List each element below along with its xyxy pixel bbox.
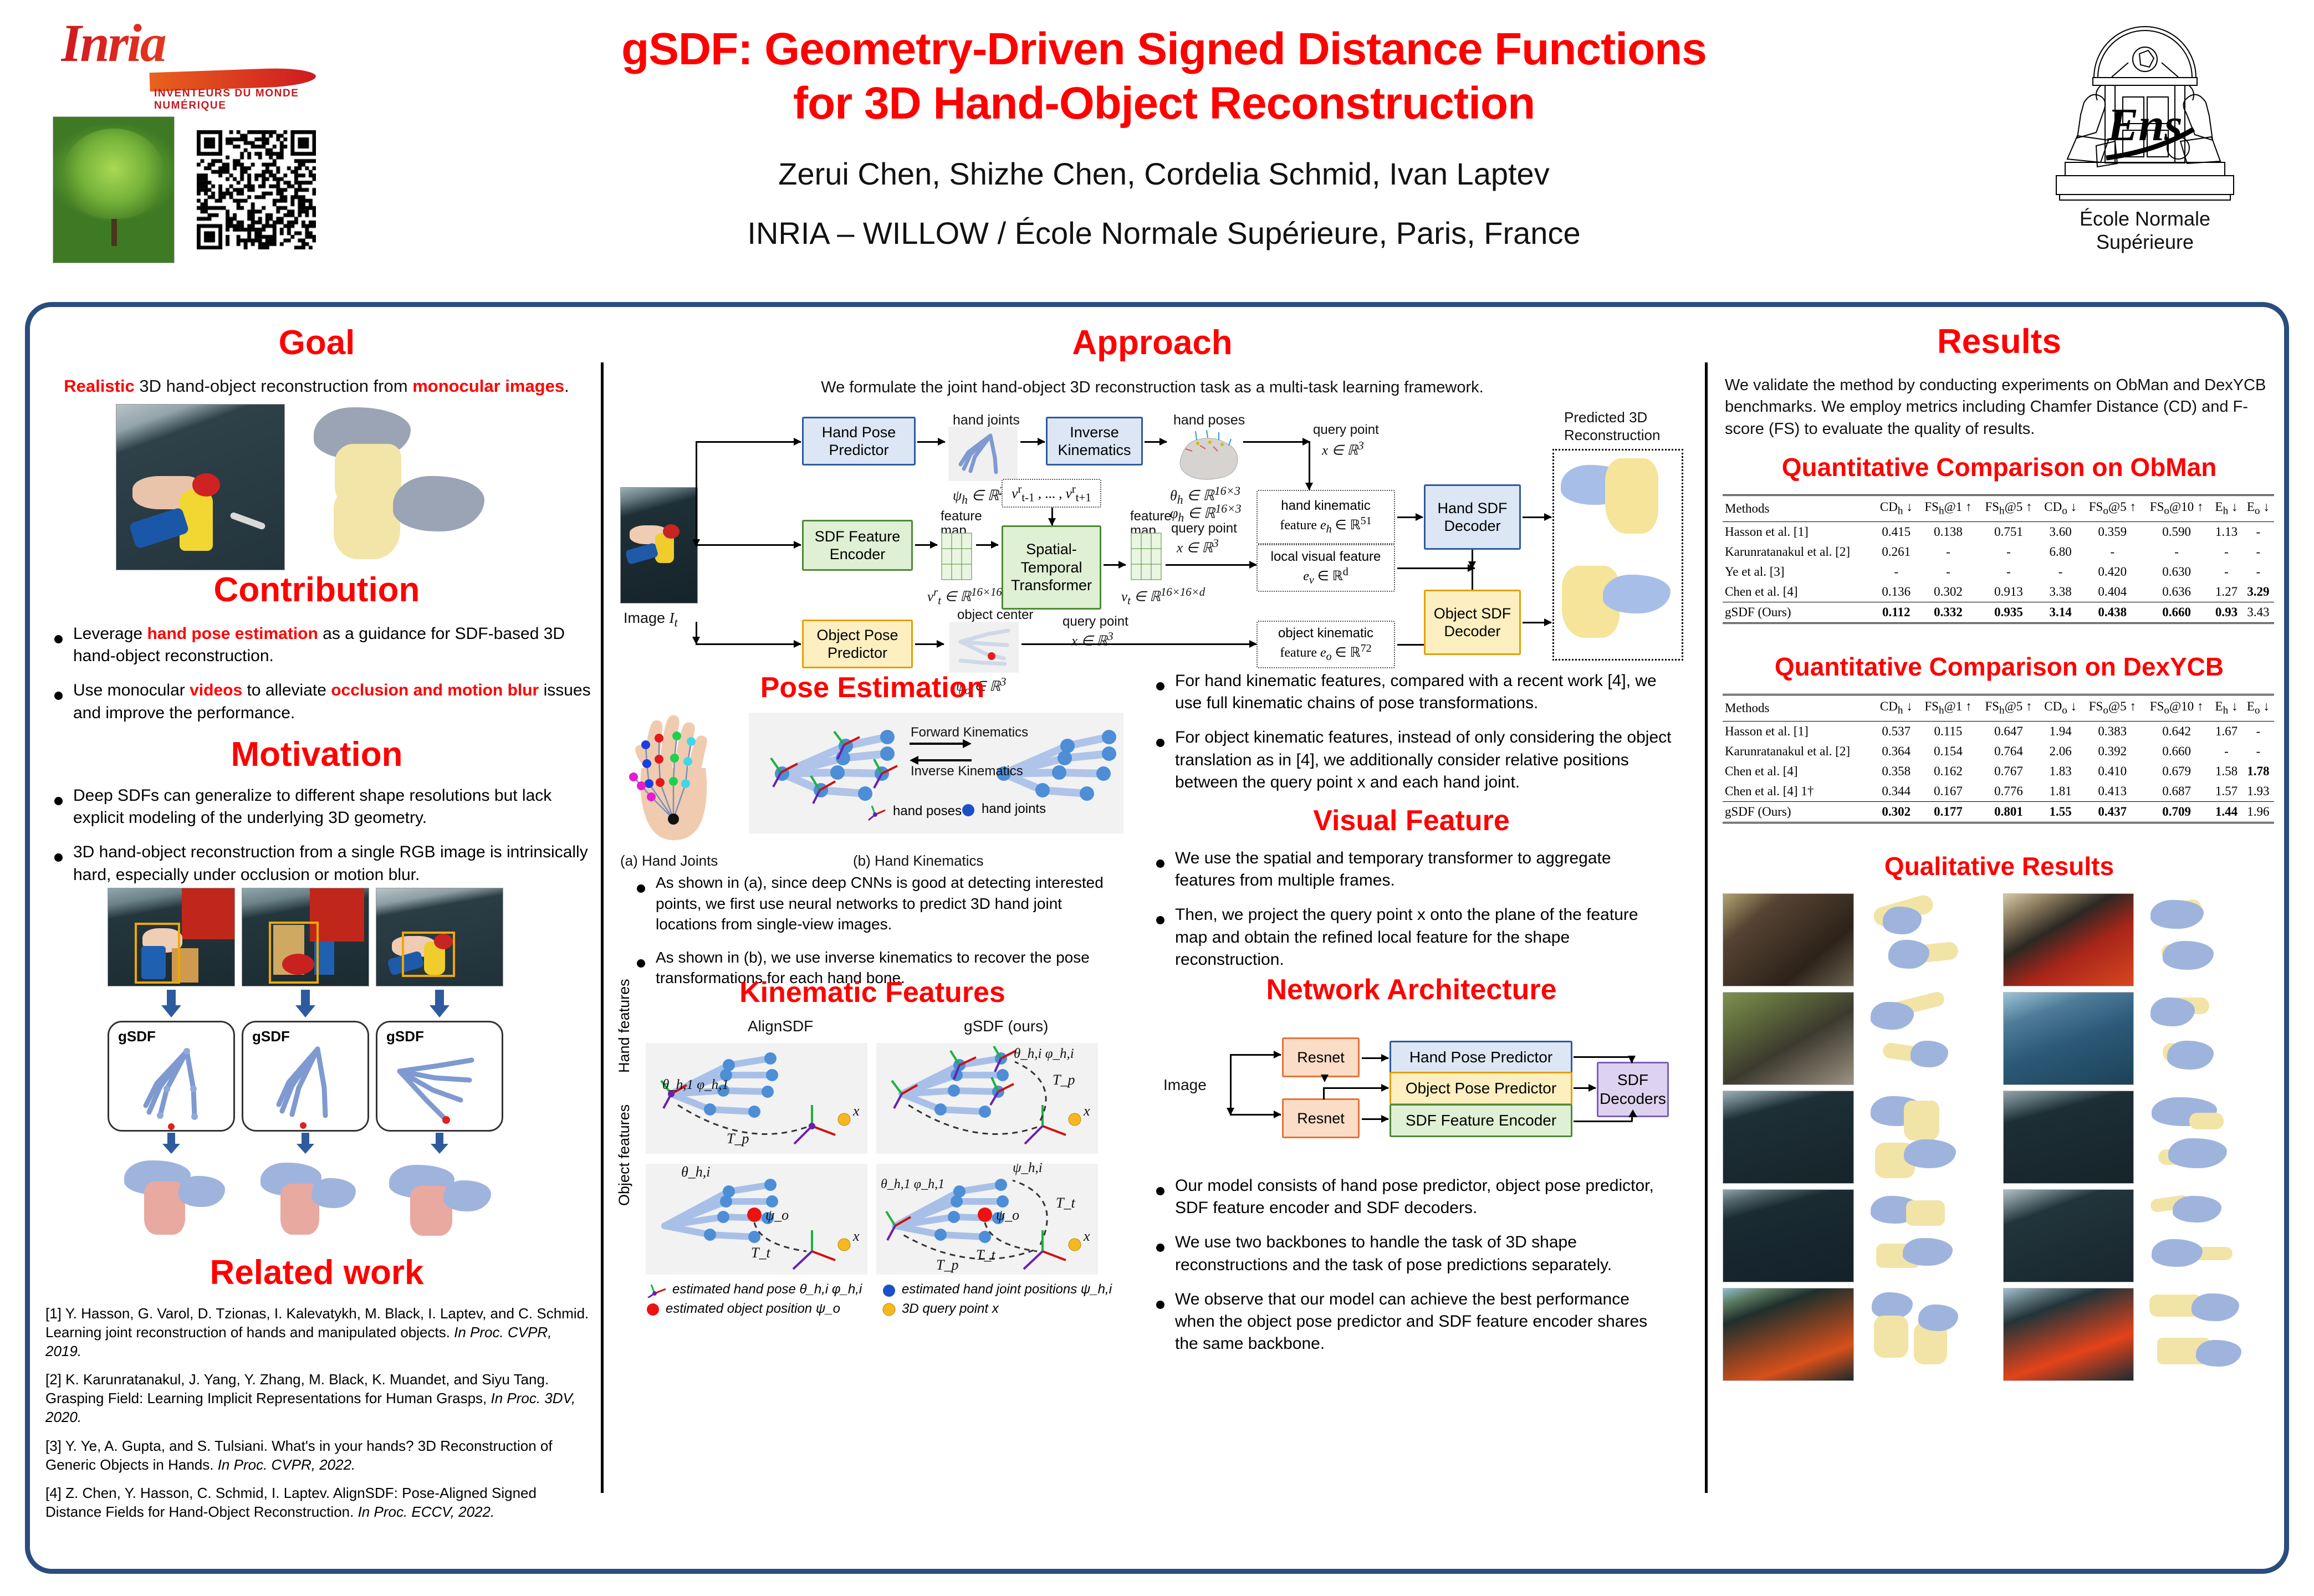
cell-value: 0.359 <box>2082 521 2143 542</box>
anno-psi-o-2: ψ_o <box>996 1207 1019 1224</box>
hand-joints-photo <box>626 710 737 841</box>
col-fso5: FSo@5 ↑ <box>2082 695 2143 722</box>
approach-pipeline-diagram: Image It Hand Pose Predictor hand joints <box>614 407 1694 662</box>
dexycb-table: Methods CDh ↓ FSh@1 ↑ FSh@5 ↑ CDo ↓ FSo@… <box>1723 694 2274 823</box>
cell-value: 0.392 <box>2082 741 2143 761</box>
poster-header: Inria INVENTEURS DU MONDE NUMÉRIQUE gSDF… <box>0 0 2314 294</box>
section-network-architecture-title: Network Architecture <box>1150 975 1673 1005</box>
anno-x-4: x <box>1084 1228 1090 1245</box>
hand-skeleton-icon <box>243 1022 371 1133</box>
table-row: Chen et al. [4] 1†0.3440.1670.7761.810.4… <box>1723 781 2274 802</box>
qual-photo-9 <box>1723 1288 1854 1381</box>
qual-render-9 <box>1863 1288 1994 1381</box>
goal-3d-render <box>302 404 518 570</box>
axes-icon <box>646 1281 668 1298</box>
table-row: Chen et al. [4]0.3580.1620.7671.830.4100… <box>1723 761 2274 781</box>
label-object-center: object center <box>957 607 1033 623</box>
cell-value: 0.679 <box>2143 761 2211 781</box>
label-hand-joints: hand joints <box>953 412 1020 428</box>
label-forward-kinematics: Forward Kinematics <box>911 725 1028 740</box>
na-bullet-2: We use two backbones to handle the task … <box>1150 1231 1673 1276</box>
box-spatial-temporal-transformer[interactable]: Spatial-TemporalTransformer <box>1002 525 1101 610</box>
label-query-point-1: query point <box>1313 422 1379 438</box>
anno-x-2: x <box>1084 1103 1090 1119</box>
qual-photo-4 <box>2003 992 2134 1085</box>
cell-value: 3.43 <box>2243 602 2274 623</box>
section-related-work-title: Related work <box>30 1255 604 1291</box>
legend-query-point: 3D query point x <box>882 1301 999 1317</box>
legend-text-3: estimated object position ψ_o <box>666 1301 840 1317</box>
reference-3: [3] Y. Ye, A. Gupta, and S. Tulsiani. Wh… <box>45 1437 591 1475</box>
cell-value: 1.81 <box>2039 781 2082 802</box>
cell-value: - <box>2243 542 2274 562</box>
cell-value: 0.404 <box>2082 582 2143 602</box>
caption-hand-kinematics: (b) Hand Kinematics <box>853 852 984 869</box>
qualitative-results-title: Qualitative Results <box>1709 853 2289 879</box>
box-temporal-tokens: vrt-1 , ... , vrt+1 <box>1002 479 1101 508</box>
motivation-arrow-row-2 <box>108 1133 529 1155</box>
cell-method: Karunratanakul et al. [2] <box>1723 741 1874 761</box>
table-header-row: Methods CDh ↓ FSh@1 ↑ FSh@5 ↑ CDo ↓ FSo@… <box>1723 695 2274 722</box>
gsdf-box-3: gSDF <box>376 1021 503 1132</box>
anno-tp-2: T_p <box>1053 1072 1075 1088</box>
box-predicted-reconstruction <box>1552 449 1683 661</box>
legend-text-2: estimated hand joint positions ψ_h,i <box>902 1282 1112 1297</box>
box-inverse-kinematics[interactable]: Inverse Kinematics <box>1046 417 1143 465</box>
cell-value: 1.58 <box>2210 761 2242 781</box>
cell-value: 0.261 <box>1874 542 1918 562</box>
cell-value: 1.94 <box>2039 721 2082 741</box>
anno-psi-o-1: ψ_o <box>765 1207 789 1224</box>
box-resnet-1[interactable]: Resnet <box>1282 1037 1360 1077</box>
cell-method: gSDF (Ours) <box>1723 801 1874 822</box>
obman-table-title: Quantitative Comparison on ObMan <box>1709 454 2289 480</box>
title-block: gSDF: Geometry-Driven Signed Distance Fu… <box>388 22 1940 251</box>
cell-value: 0.413 <box>2082 781 2143 802</box>
vf-bullet-1: We use the spatial and temporary transfo… <box>1150 847 1673 892</box>
legend-hand-joints: hand joints <box>961 801 1046 817</box>
cell-value: - <box>2243 562 2274 582</box>
column-divider-2 <box>1705 362 1708 1493</box>
ref-4-id: [4] <box>45 1485 62 1501</box>
hand-skeleton-icon <box>109 1022 237 1133</box>
cell-method: Hasson et al. [1] <box>1723 721 1874 741</box>
goal-statement: Realistic 3D hand-object reconstruction … <box>42 375 591 398</box>
dexycb-table-body: Hasson et al. [1]0.5370.1150.6471.940.38… <box>1723 721 2274 822</box>
col-cdo: CDo ↓ <box>2039 695 2082 722</box>
anno-x-1: x <box>853 1103 860 1119</box>
down-arrow-icon <box>161 1133 181 1155</box>
section-pose-estimation-title: Pose Estimation <box>620 673 1125 703</box>
table-row: Hasson et al. [1]0.4150.1380.7513.600.35… <box>1723 521 2274 542</box>
cell-value: 0.438 <box>2082 602 2143 623</box>
table-row-ours: gSDF (Ours)0.1120.3320.9353.140.4380.660… <box>1723 602 2274 623</box>
page-title: gSDF: Geometry-Driven Signed Distance Fu… <box>388 22 1940 131</box>
cell-value: 0.437 <box>2082 801 2143 822</box>
qual-render-7 <box>1863 1189 1994 1282</box>
cell-value: - <box>1874 562 1918 582</box>
table-row: Chen et al. [4]0.1360.3020.9133.380.4040… <box>1723 582 2274 602</box>
anno-tt-2: T_t <box>1056 1195 1075 1211</box>
inria-logo: Inria INVENTEURS DU MONDE NUMÉRIQUE <box>61 17 321 94</box>
reference-2: [2] K. Karunratanakul, J. Yang, Y. Zhang… <box>45 1370 591 1426</box>
right-column: Results We validate the method by conduc… <box>1709 307 2289 1569</box>
anno-tt-1: T_t <box>751 1245 770 1261</box>
section-kinematic-features-title: Kinematic Features <box>620 978 1125 1008</box>
cell-value: 6.80 <box>2039 542 2082 562</box>
qual-photo-2 <box>2003 893 2134 986</box>
cell-value: - <box>2143 542 2211 562</box>
col-fsh5: FSh@5 ↑ <box>1978 495 2039 522</box>
cell-value: 0.642 <box>2143 721 2211 741</box>
legend-estimated-joints: estimated hand joint positions ψ_h,i <box>882 1282 1112 1297</box>
box-object-pose-predictor[interactable]: Object PosePredictor <box>802 620 913 668</box>
kinematic-legend: estimated hand pose θ_h,i φ_h,i estimate… <box>646 1281 1133 1317</box>
cell-value: 0.167 <box>1918 781 1978 802</box>
recon-render-bottom <box>1554 555 1682 659</box>
cell-method: Ye et al. [3] <box>1723 562 1874 582</box>
cell-value: 0.177 <box>1918 801 1978 822</box>
anno-tp-1: T_p <box>727 1130 749 1147</box>
cell-value: 0.647 <box>1978 721 2039 741</box>
panel-alignsdf-object: θ_h,i ψ_o T_t x <box>646 1164 867 1275</box>
label-query-point-3: query point <box>1063 614 1128 630</box>
box-resnet-2[interactable]: Resnet <box>1282 1098 1360 1138</box>
cell-value: - <box>2210 741 2242 761</box>
motivation-gsdf-row: gSDF gSDF <box>108 1021 529 1132</box>
kinematic-feature-bullets: For hand kinematic features, compared wi… <box>1150 670 1673 806</box>
motivation-bullet-2: 3D hand-object reconstruction from a sin… <box>48 841 591 886</box>
box-sdf-feature-encoder[interactable]: SDF FeatureEncoder <box>802 520 913 571</box>
box-object-kinematic-feature: object kinematicfeature eo ∈ ℝ72 <box>1256 621 1395 668</box>
cell-value: 0.332 <box>1918 602 1978 623</box>
motivation-render-3 <box>376 1157 503 1243</box>
inria-tagline: INVENTEURS DU MONDE NUMÉRIQUE <box>154 88 321 112</box>
cell-value: 0.767 <box>1978 761 2039 781</box>
sdf-decoders-label: SDF Decoders <box>1598 1071 1667 1108</box>
table-row: Karunratanakul et al. [2]0.3640.1540.764… <box>1723 741 2274 761</box>
panel-alignsdf-hand: θ_h,1 φ_h,1 T_p x <box>646 1043 867 1154</box>
ens-caption: École Normale Supérieure <box>2029 207 2261 254</box>
cell-value: 0.112 <box>1874 602 1918 623</box>
related-work-list: [1] Y. Hasson, G. Varol, D. Tzionas, I. … <box>45 1305 591 1522</box>
feature-map-grid-icon <box>1130 532 1163 582</box>
label-query-point-2: query point <box>1171 521 1237 536</box>
thumb-hand-joints <box>948 427 1018 481</box>
cell-value: 0.410 <box>2082 761 2143 781</box>
down-arrow-icon <box>294 990 316 1019</box>
label-hand-features-row: Hand features <box>616 979 633 1073</box>
table-row: Hasson et al. [1]0.5370.1150.6471.940.38… <box>1723 721 2274 741</box>
cell-value: 0.364 <box>1874 741 1918 761</box>
diagram-input-image <box>620 487 698 603</box>
cell-value: - <box>2243 721 2274 741</box>
cell-value: 0.415 <box>1874 521 1918 542</box>
cell-value: 0.764 <box>1978 741 2039 761</box>
cell-value: 0.660 <box>2143 741 2211 761</box>
vf-bullet-2: Then, we project the query point x onto … <box>1150 904 1673 971</box>
na-bullet-3: We observe that our model can achieve th… <box>1150 1288 1673 1355</box>
cell-value: - <box>1918 562 1978 582</box>
cell-method: gSDF (Ours) <box>1723 602 1874 623</box>
table-row-ours: gSDF (Ours)0.3020.1770.8011.550.4370.709… <box>1723 801 2274 822</box>
motivation-render-1 <box>108 1157 235 1243</box>
col-cdo: CDo ↓ <box>2039 495 2082 522</box>
motivation-photo-row <box>108 888 529 986</box>
cell-value: 1.78 <box>2243 761 2274 781</box>
ref-3-venue: In Proc. CVPR, 2022. <box>218 1456 356 1473</box>
cell-value: 0.358 <box>1874 761 1918 781</box>
cell-value: - <box>2243 741 2274 761</box>
col-eh: Eh ↓ <box>2210 495 2242 522</box>
approach-intro: We formulate the joint hand-object 3D re… <box>609 377 1695 398</box>
label-feature-map-2: feature <box>1130 509 1172 524</box>
col-cdh: CDh ↓ <box>1874 495 1918 522</box>
object-center-icon <box>949 622 1019 673</box>
reference-4: [4] Z. Chen, Y. Hasson, C. Schmid, I. La… <box>45 1484 591 1522</box>
kinematic-panel-icon <box>646 1043 867 1154</box>
joint-dot-icon <box>961 801 976 817</box>
down-arrow-icon <box>160 990 182 1019</box>
recon-render-top <box>1554 451 1682 555</box>
cell-value: 0.687 <box>2143 781 2211 802</box>
anno-psi-hi: ψ_h,i <box>1013 1160 1043 1176</box>
anno-x-3: x <box>853 1228 860 1245</box>
section-results-title: Results <box>1709 324 2289 360</box>
cell-value: 0.636 <box>2143 582 2211 602</box>
reference-1: [1] Y. Hasson, G. Varol, D. Tzionas, I. … <box>45 1305 591 1360</box>
box-hand-kinematic-feature: hand kinematicfeature eh ∈ ℝ51 <box>1256 490 1395 544</box>
motivation-arrow-row-1 <box>108 990 529 1019</box>
motivation-photo-1 <box>108 888 235 986</box>
cell-value: 0.660 <box>2143 602 2211 623</box>
anno-theta-hi-2: θ_h,i <box>681 1164 711 1180</box>
kf-bullet-1: For hand kinematic features, compared wi… <box>1150 670 1673 714</box>
obman-table-body: Hasson et al. [1]0.4150.1380.7513.600.35… <box>1723 521 2274 623</box>
anno-theta-h1: θ_h,1 φ_h,1 <box>662 1077 729 1093</box>
qual-photo-8 <box>2003 1189 2134 1282</box>
qual-render-1 <box>1863 893 1994 986</box>
na-bullet-1: Our model consists of hand pose predicto… <box>1150 1175 1673 1219</box>
goal-highlight-2: monocular images <box>412 376 564 396</box>
ref-4-venue: In Proc. ECCV, 2022. <box>358 1503 495 1520</box>
motivation-figure: gSDF gSDF <box>108 888 529 1243</box>
label-v-t: vt ∈ ℝ16×16×d <box>1121 585 1205 607</box>
motivation-render-row <box>108 1157 529 1243</box>
goal-text-mid: 3D hand-object reconstruction from <box>135 376 412 396</box>
col-fso10: FSo@10 ↑ <box>2143 495 2211 522</box>
label-query-x-1: x ∈ ℝ3 <box>1322 439 1364 458</box>
legend-hand-joints-label: hand joints <box>982 801 1046 817</box>
col-eh: Eh ↓ <box>2210 695 2242 722</box>
box-hand-pose-predictor[interactable]: Hand Pose Predictor <box>802 417 916 465</box>
box-na-object-pose-predictor[interactable]: Object Pose Predictor <box>1390 1072 1572 1105</box>
cell-value: 0.302 <box>1918 582 1978 602</box>
motivation-photo-3 <box>376 888 503 986</box>
hand-joints-icon <box>948 427 1018 481</box>
feature-map-grid-icon <box>941 532 974 582</box>
inria-wordmark: Inria <box>61 17 321 70</box>
label-predicted-recon-1: Predicted 3D <box>1564 409 1647 426</box>
legend-estimated-hand-pose: estimated hand pose θ_h,i φ_h,i <box>646 1281 867 1298</box>
cell-value: 1.27 <box>2210 582 2242 602</box>
ref-2-text: K. Karunratanakul, J. Yang, Y. Zhang, M.… <box>45 1371 549 1406</box>
qual-render-10 <box>2143 1288 2274 1381</box>
anno-theta-hi: θ_h,i φ_h,i <box>1014 1046 1074 1062</box>
kf-bullet-2: For object kinematic features, instead o… <box>1150 727 1673 794</box>
legend-text-1: estimated hand pose θ_h,i φ_h,i <box>672 1282 862 1297</box>
cell-value: 0.162 <box>1918 761 1978 781</box>
cell-value: - <box>2082 542 2143 562</box>
label-hand-poses: hand poses <box>1173 412 1245 428</box>
up-arrow-icon <box>1628 1109 1638 1118</box>
na-image-label: Image <box>1163 1076 1207 1094</box>
network-architecture-diagram: Image Resnet Resnet Hand Pose Predictor … <box>1163 1016 1673 1166</box>
motivation-photo-2 <box>242 888 369 986</box>
caption-hand-joints: (a) Hand Joints <box>620 852 718 869</box>
object-dot-icon <box>646 1302 660 1316</box>
col-eo: Eo ↓ <box>2243 495 2274 522</box>
middle-column: Approach We formulate the joint hand-obj… <box>609 307 1695 1569</box>
col-eo: Eo ↓ <box>2243 695 2274 722</box>
cell-value: 2.06 <box>2039 741 2082 761</box>
network-architecture-bullets: Our model consists of hand pose predicto… <box>1150 1175 1673 1367</box>
visual-feature-bullets: We use the spatial and temporary transfo… <box>1150 847 1673 983</box>
c2-pre: Use monocular <box>73 681 190 699</box>
cell-value: 0.344 <box>1874 781 1918 802</box>
box-na-hand-pose-predictor[interactable]: Hand Pose Predictor <box>1390 1041 1572 1074</box>
down-arrow-icon <box>295 1133 315 1155</box>
results-intro: We validate the method by conducting exp… <box>1725 375 2274 440</box>
thumb-object-center <box>949 622 1019 673</box>
box-object-sdf-decoder[interactable]: Object SDFDecoder <box>1424 590 1521 655</box>
cell-value: 1.83 <box>2039 761 2082 781</box>
cell-value: 0.115 <box>1918 721 1978 741</box>
anno-tt-3: T_t <box>976 1247 995 1263</box>
label-feature-map-1: feature <box>941 509 982 524</box>
ens-logo: Ens École Normale Supérieure <box>2029 19 2261 241</box>
ref-3-id: [3] <box>45 1438 62 1454</box>
cell-value: 0.590 <box>2143 521 2211 542</box>
cell-value: 0.537 <box>1874 721 1918 741</box>
pose-bullet-1: As shown in (a), since deep CNNs is good… <box>630 872 1123 935</box>
c1-pre: Leverage <box>73 625 147 643</box>
willow-tree-photo <box>53 116 175 263</box>
cell-value: 0.801 <box>1978 801 2039 822</box>
axes-icon <box>865 801 887 821</box>
c2-hl: videos <box>190 681 242 699</box>
diagram-image-label: Image It <box>624 610 678 630</box>
table-row: Ye et al. [3]----0.4200.630-- <box>1723 562 2274 582</box>
qr-code[interactable] <box>197 130 316 249</box>
label-predicted-recon-2: Reconstruction <box>1564 427 1660 444</box>
box-hand-sdf-decoder[interactable]: Hand SDFDecoder <box>1424 484 1521 550</box>
affiliation: INRIA – WILLOW / École Normale Supérieur… <box>388 215 1940 251</box>
label-query-x-3: x ∈ ℝ3 <box>1071 630 1113 649</box>
cell-value: 0.302 <box>1874 801 1918 822</box>
legend-estimated-object: estimated object position ψ_o <box>646 1301 867 1317</box>
motivation-render-2 <box>242 1157 369 1243</box>
left-column: Goal Realistic 3D hand-object reconstruc… <box>30 307 604 1569</box>
table-row: Karunratanakul et al. [2]0.261--6.80---- <box>1723 542 2274 562</box>
ref-2-id: [2] <box>45 1371 62 1388</box>
cell-value: 0.709 <box>2143 801 2211 822</box>
cell-value: 0.935 <box>1978 602 2039 623</box>
cell-method: Hasson et al. [1] <box>1723 521 1874 542</box>
cell-value: - <box>2210 562 2242 582</box>
cell-value: - <box>2243 521 2274 542</box>
down-arrow-icon <box>430 1133 449 1155</box>
col-fso10: FSo@10 ↑ <box>2143 695 2211 722</box>
qual-render-4 <box>2143 992 2274 1085</box>
cell-value: - <box>2210 542 2242 562</box>
cell-value: 1.67 <box>2210 721 2242 741</box>
ref-1-id: [1] <box>45 1305 62 1322</box>
goal-text-end: . <box>564 376 569 396</box>
cell-value: 0.93 <box>2210 602 2242 623</box>
cell-value: 1.44 <box>2210 801 2242 822</box>
ens-building-icon: Ens <box>2045 19 2245 202</box>
kinematic-features-figure: AlignSDF gSDF (ours) Hand features Objec… <box>620 1017 1125 1328</box>
qual-render-3 <box>1863 992 1994 1085</box>
label-alignsdf: AlignSDF <box>748 1017 813 1035</box>
c2-hl2: occlusion and motion blur <box>331 681 539 699</box>
cell-value: 0.630 <box>2143 562 2211 582</box>
cell-value: - <box>2039 562 2082 582</box>
cell-value: 1.96 <box>2243 801 2274 822</box>
anno-theta-h1-2: θ_h,1 φ_h,1 <box>881 1177 944 1192</box>
cell-value: 0.383 <box>2082 721 2143 741</box>
joint-dot-icon <box>882 1282 896 1297</box>
dexycb-table-title: Quantitative Comparison on DexYCB <box>1709 653 2289 680</box>
hand-kinematics-figure: Forward Kinematics Inverse Kinematics ha… <box>749 713 1123 833</box>
box-local-visual-feature: local visual featureev ∈ ℝd <box>1256 544 1395 592</box>
cell-method: Chen et al. [4] <box>1723 582 1874 602</box>
panel-gsdf-object: ψ_h,i T_t θ_h,1 φ_h,1 ψ_o T_t T_p x <box>876 1164 1098 1275</box>
label-query-x-2: x ∈ ℝ3 <box>1177 536 1219 556</box>
cell-value: 0.776 <box>1978 781 2039 802</box>
title-line-1: gSDF: Geometry-Driven Signed Distance Fu… <box>388 22 1940 76</box>
legend-hand-poses: hand poses <box>865 801 962 821</box>
table-header-row: Methods CDh ↓ FSh@1 ↑ FSh@5 ↑ CDo ↓ FSo@… <box>1723 495 2274 522</box>
author-list: Zerui Chen, Shizhe Chen, Cordelia Schmid… <box>388 156 1940 192</box>
hand-mesh-icon <box>1169 427 1241 481</box>
qual-photo-10 <box>2003 1288 2134 1381</box>
cell-value: 0.138 <box>1918 521 1978 542</box>
obman-table-wrap: Methods CDh ↓ FSh@1 ↑ FSh@5 ↑ CDo ↓ FSo@… <box>1723 494 2274 624</box>
contribution-bullet-2: Use monocular videos to alleviate occlus… <box>48 679 591 724</box>
cell-value: 0.136 <box>1874 582 1918 602</box>
cell-value: 1.55 <box>2039 801 2082 822</box>
section-motivation-title: Motivation <box>30 736 604 773</box>
poster-body: Goal Realistic 3D hand-object reconstruc… <box>25 302 2289 1574</box>
box-sdf-decoders[interactable]: SDF Decoders <box>1597 1062 1669 1117</box>
thumb-hand-poses <box>1169 427 1241 481</box>
cell-value: 1.57 <box>2210 781 2242 802</box>
cell-value: - <box>1918 542 1978 562</box>
col-cdh: CDh ↓ <box>1874 695 1918 722</box>
box-na-sdf-feature-encoder[interactable]: SDF Feature Encoder <box>1390 1104 1572 1137</box>
qual-render-6 <box>2143 1091 2274 1184</box>
cell-value: - <box>1978 542 2039 562</box>
cell-value: 1.93 <box>2243 781 2274 802</box>
motivation-bullet-1: Deep SDFs can generalize to different sh… <box>48 785 591 829</box>
label-gsdf-ours: gSDF (ours) <box>964 1017 1048 1035</box>
c1-hl: hand pose estimation <box>147 625 318 643</box>
c2-mid: to alleviate <box>242 681 331 699</box>
section-goal-title: Goal <box>30 325 604 361</box>
label-inverse-kinematics: Inverse Kinematics <box>911 764 1023 779</box>
